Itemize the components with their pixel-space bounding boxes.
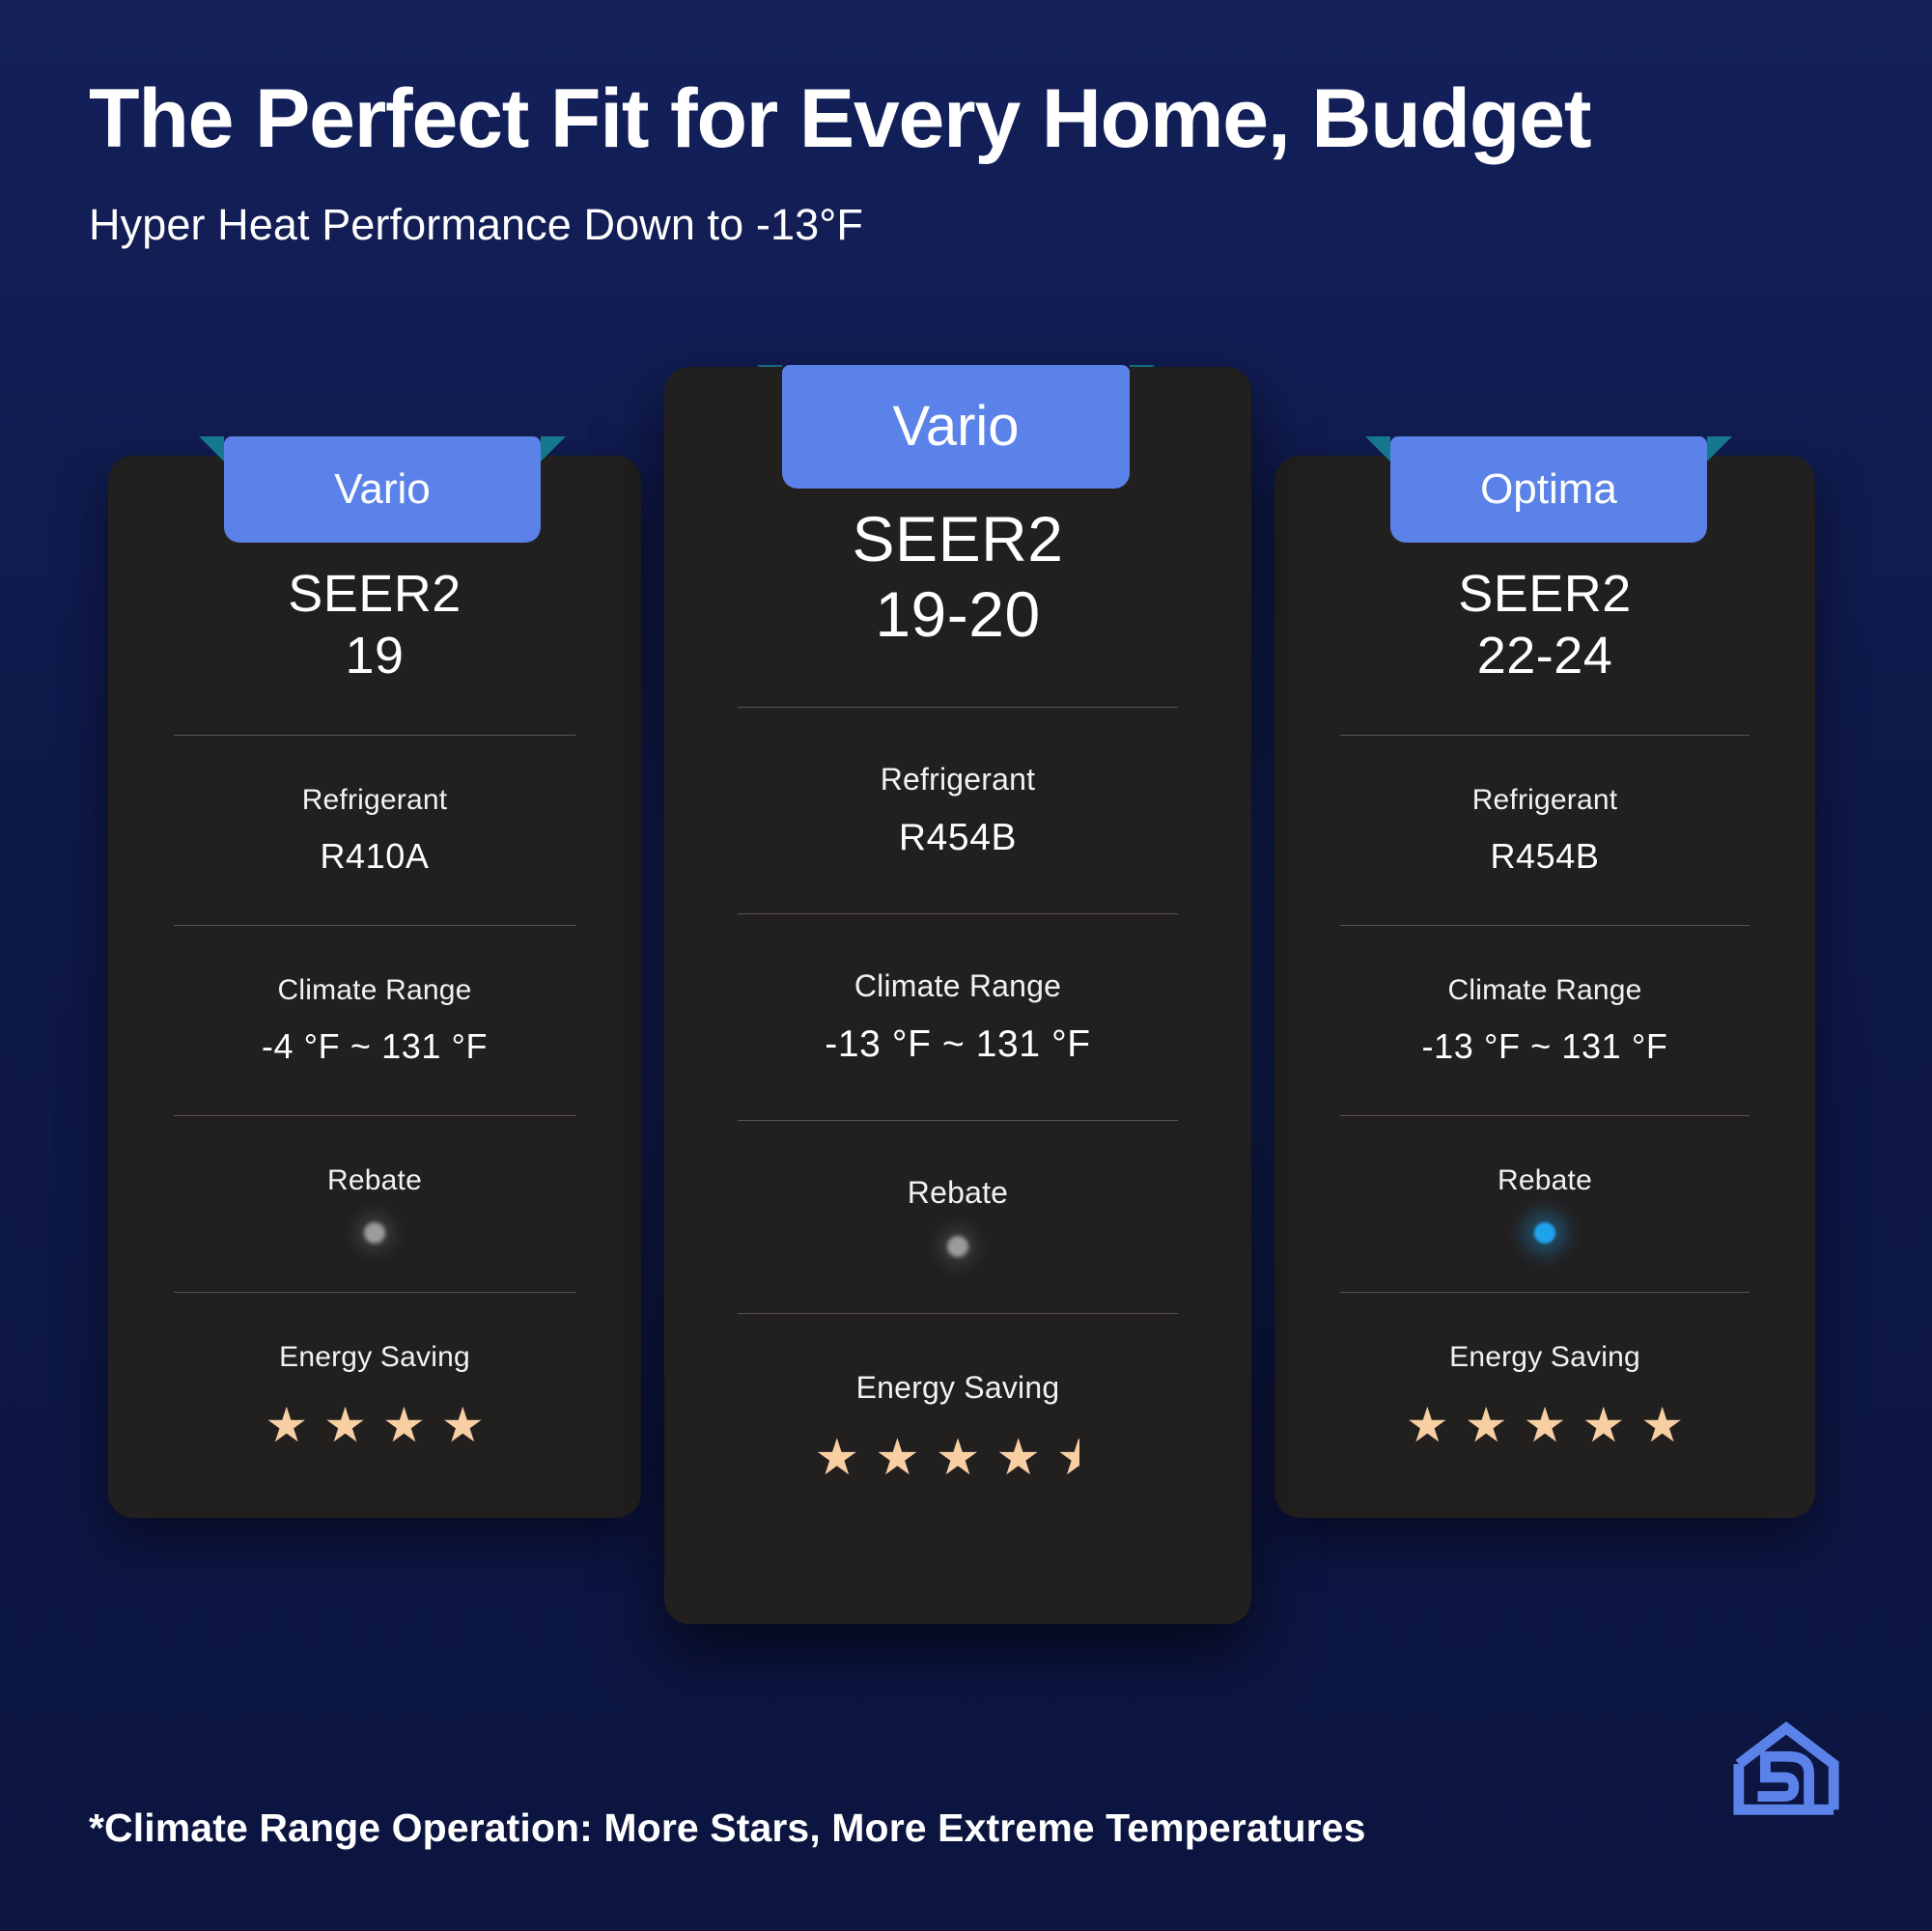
energy-saving-row: Energy Saving★★★★ [174, 1341, 575, 1449]
energy-saving-stars: ★★★★ [174, 1401, 575, 1449]
row-divider [174, 735, 575, 736]
star-icon: ★ [382, 1401, 426, 1449]
star-icon: ★ [265, 1401, 308, 1449]
spec-value: -13 °F ~ 131 °F [1340, 1026, 1750, 1067]
row-divider [738, 1313, 1178, 1314]
spec-value: -4 °F ~ 131 °F [174, 1026, 575, 1067]
rebate-status-dot-icon [364, 1222, 385, 1244]
spec-value: R410A [174, 836, 575, 877]
star-icon: ★ [1640, 1401, 1684, 1449]
star-icon: ★ [441, 1401, 485, 1449]
ribbon-fold-right-icon [1707, 436, 1732, 462]
product-card-vario-mid[interactable]: SEER219-20RefrigerantR454BClimate Range-… [664, 367, 1251, 1624]
star-icon: ★ [1524, 1401, 1567, 1449]
spec-value: -13 °F ~ 131 °F [738, 1023, 1178, 1066]
card-body: SEER222-24RefrigerantR454BClimate Range-… [1274, 564, 1815, 1449]
seer-value: 19-20 [738, 577, 1178, 653]
seer-value: 19 [174, 626, 575, 687]
star-icon: ★ [323, 1401, 367, 1449]
spec-label: Refrigerant [1340, 784, 1750, 817]
ribbon-fold-right-icon [541, 436, 566, 462]
ribbon-vario-mid[interactable]: Vario [782, 365, 1130, 489]
ribbon-optima-right[interactable]: Optima [1390, 436, 1707, 543]
row-divider [738, 913, 1178, 914]
seer-block: SEER219 [174, 564, 575, 686]
card-body: SEER219RefrigerantR410AClimate Range-4 °… [108, 564, 641, 1449]
seer-block: SEER222-24 [1340, 564, 1750, 686]
spec-label: Climate Range [174, 974, 575, 1007]
rebate-indicator [174, 1222, 575, 1244]
rebate-indicator [1340, 1222, 1750, 1244]
energy-saving-row: Energy Saving★★★★★ [1340, 1341, 1750, 1449]
spec-value: R454B [738, 817, 1178, 859]
ribbon-label: Vario [224, 436, 541, 543]
card-body: SEER219-20RefrigerantR454BClimate Range-… [664, 502, 1251, 1483]
spec-label: Refrigerant [738, 762, 1178, 798]
spec-row: Climate Range-13 °F ~ 131 °F [738, 968, 1178, 1066]
seer-block: SEER219-20 [738, 502, 1178, 653]
seer-label: SEER2 [738, 502, 1178, 577]
ribbon-fold-left-icon [1365, 436, 1390, 462]
rebate-row: Rebate [174, 1164, 575, 1244]
rebate-label: Rebate [1340, 1164, 1750, 1197]
seer-value: 22-24 [1340, 626, 1750, 687]
rebate-indicator [738, 1236, 1178, 1257]
row-divider [174, 1292, 575, 1293]
ribbon-label: Vario [782, 365, 1130, 489]
footnote: *Climate Range Operation: More Stars, Mo… [89, 1805, 1365, 1851]
spec-row: Climate Range-13 °F ~ 131 °F [1340, 974, 1750, 1067]
infographic-root: The Perfect Fit for Every Home, Budget H… [0, 0, 1932, 1931]
star-icon: ★ [875, 1433, 920, 1483]
rebate-label: Rebate [174, 1164, 575, 1197]
star-icon: ★ [995, 1433, 1041, 1483]
row-divider [1340, 1292, 1750, 1293]
rebate-row: Rebate [1340, 1164, 1750, 1244]
seer-label: SEER2 [1340, 564, 1750, 626]
spec-row: Climate Range-4 °F ~ 131 °F [174, 974, 575, 1067]
rebate-label: Rebate [738, 1175, 1178, 1211]
row-divider [1340, 735, 1750, 736]
rebate-status-dot-icon [1534, 1222, 1555, 1244]
row-divider [1340, 925, 1750, 926]
ribbon-fold-left-icon [199, 436, 224, 462]
star-icon: ★ [1582, 1401, 1625, 1449]
ribbon-label: Optima [1390, 436, 1707, 543]
energy-saving-stars: ★★★★★ [738, 1433, 1178, 1483]
energy-saving-label: Energy Saving [738, 1370, 1178, 1406]
half-star-icon: ★ [1056, 1433, 1102, 1483]
spec-row: RefrigerantR454B [1340, 784, 1750, 877]
row-divider [174, 1115, 575, 1116]
spec-label: Refrigerant [174, 784, 575, 817]
row-divider [738, 1120, 1178, 1121]
star-icon: ★ [814, 1433, 859, 1483]
product-card-vario-left[interactable]: SEER219RefrigerantR410AClimate Range-4 °… [108, 456, 641, 1518]
spec-row: RefrigerantR410A [174, 784, 575, 877]
energy-saving-stars: ★★★★★ [1340, 1401, 1750, 1449]
star-icon: ★ [1406, 1401, 1449, 1449]
product-card-optima-right[interactable]: SEER222-24RefrigerantR454BClimate Range-… [1274, 456, 1815, 1518]
row-divider [174, 925, 575, 926]
house-spiral-logo-icon [1729, 1715, 1843, 1829]
row-divider [738, 707, 1178, 708]
seer-label: SEER2 [174, 564, 575, 626]
spec-row: RefrigerantR454B [738, 762, 1178, 859]
spec-label: Climate Range [1340, 974, 1750, 1007]
star-icon: ★ [1465, 1401, 1508, 1449]
comparison-cards: SEER219RefrigerantR410AClimate Range-4 °… [0, 367, 1932, 1661]
spec-label: Climate Range [738, 968, 1178, 1004]
header: The Perfect Fit for Every Home, Budget H… [89, 75, 1846, 250]
energy-saving-label: Energy Saving [174, 1341, 575, 1374]
energy-saving-row: Energy Saving★★★★★ [738, 1370, 1178, 1483]
energy-saving-label: Energy Saving [1340, 1341, 1750, 1374]
spec-value: R454B [1340, 836, 1750, 877]
row-divider [1340, 1115, 1750, 1116]
page-subtitle: Hyper Heat Performance Down to -13°F [89, 200, 1846, 250]
ribbon-vario-left[interactable]: Vario [224, 436, 541, 543]
star-icon: ★ [936, 1433, 981, 1483]
page-title: The Perfect Fit for Every Home, Budget [89, 75, 1846, 163]
rebate-row: Rebate [738, 1175, 1178, 1257]
rebate-status-dot-icon [947, 1236, 968, 1257]
